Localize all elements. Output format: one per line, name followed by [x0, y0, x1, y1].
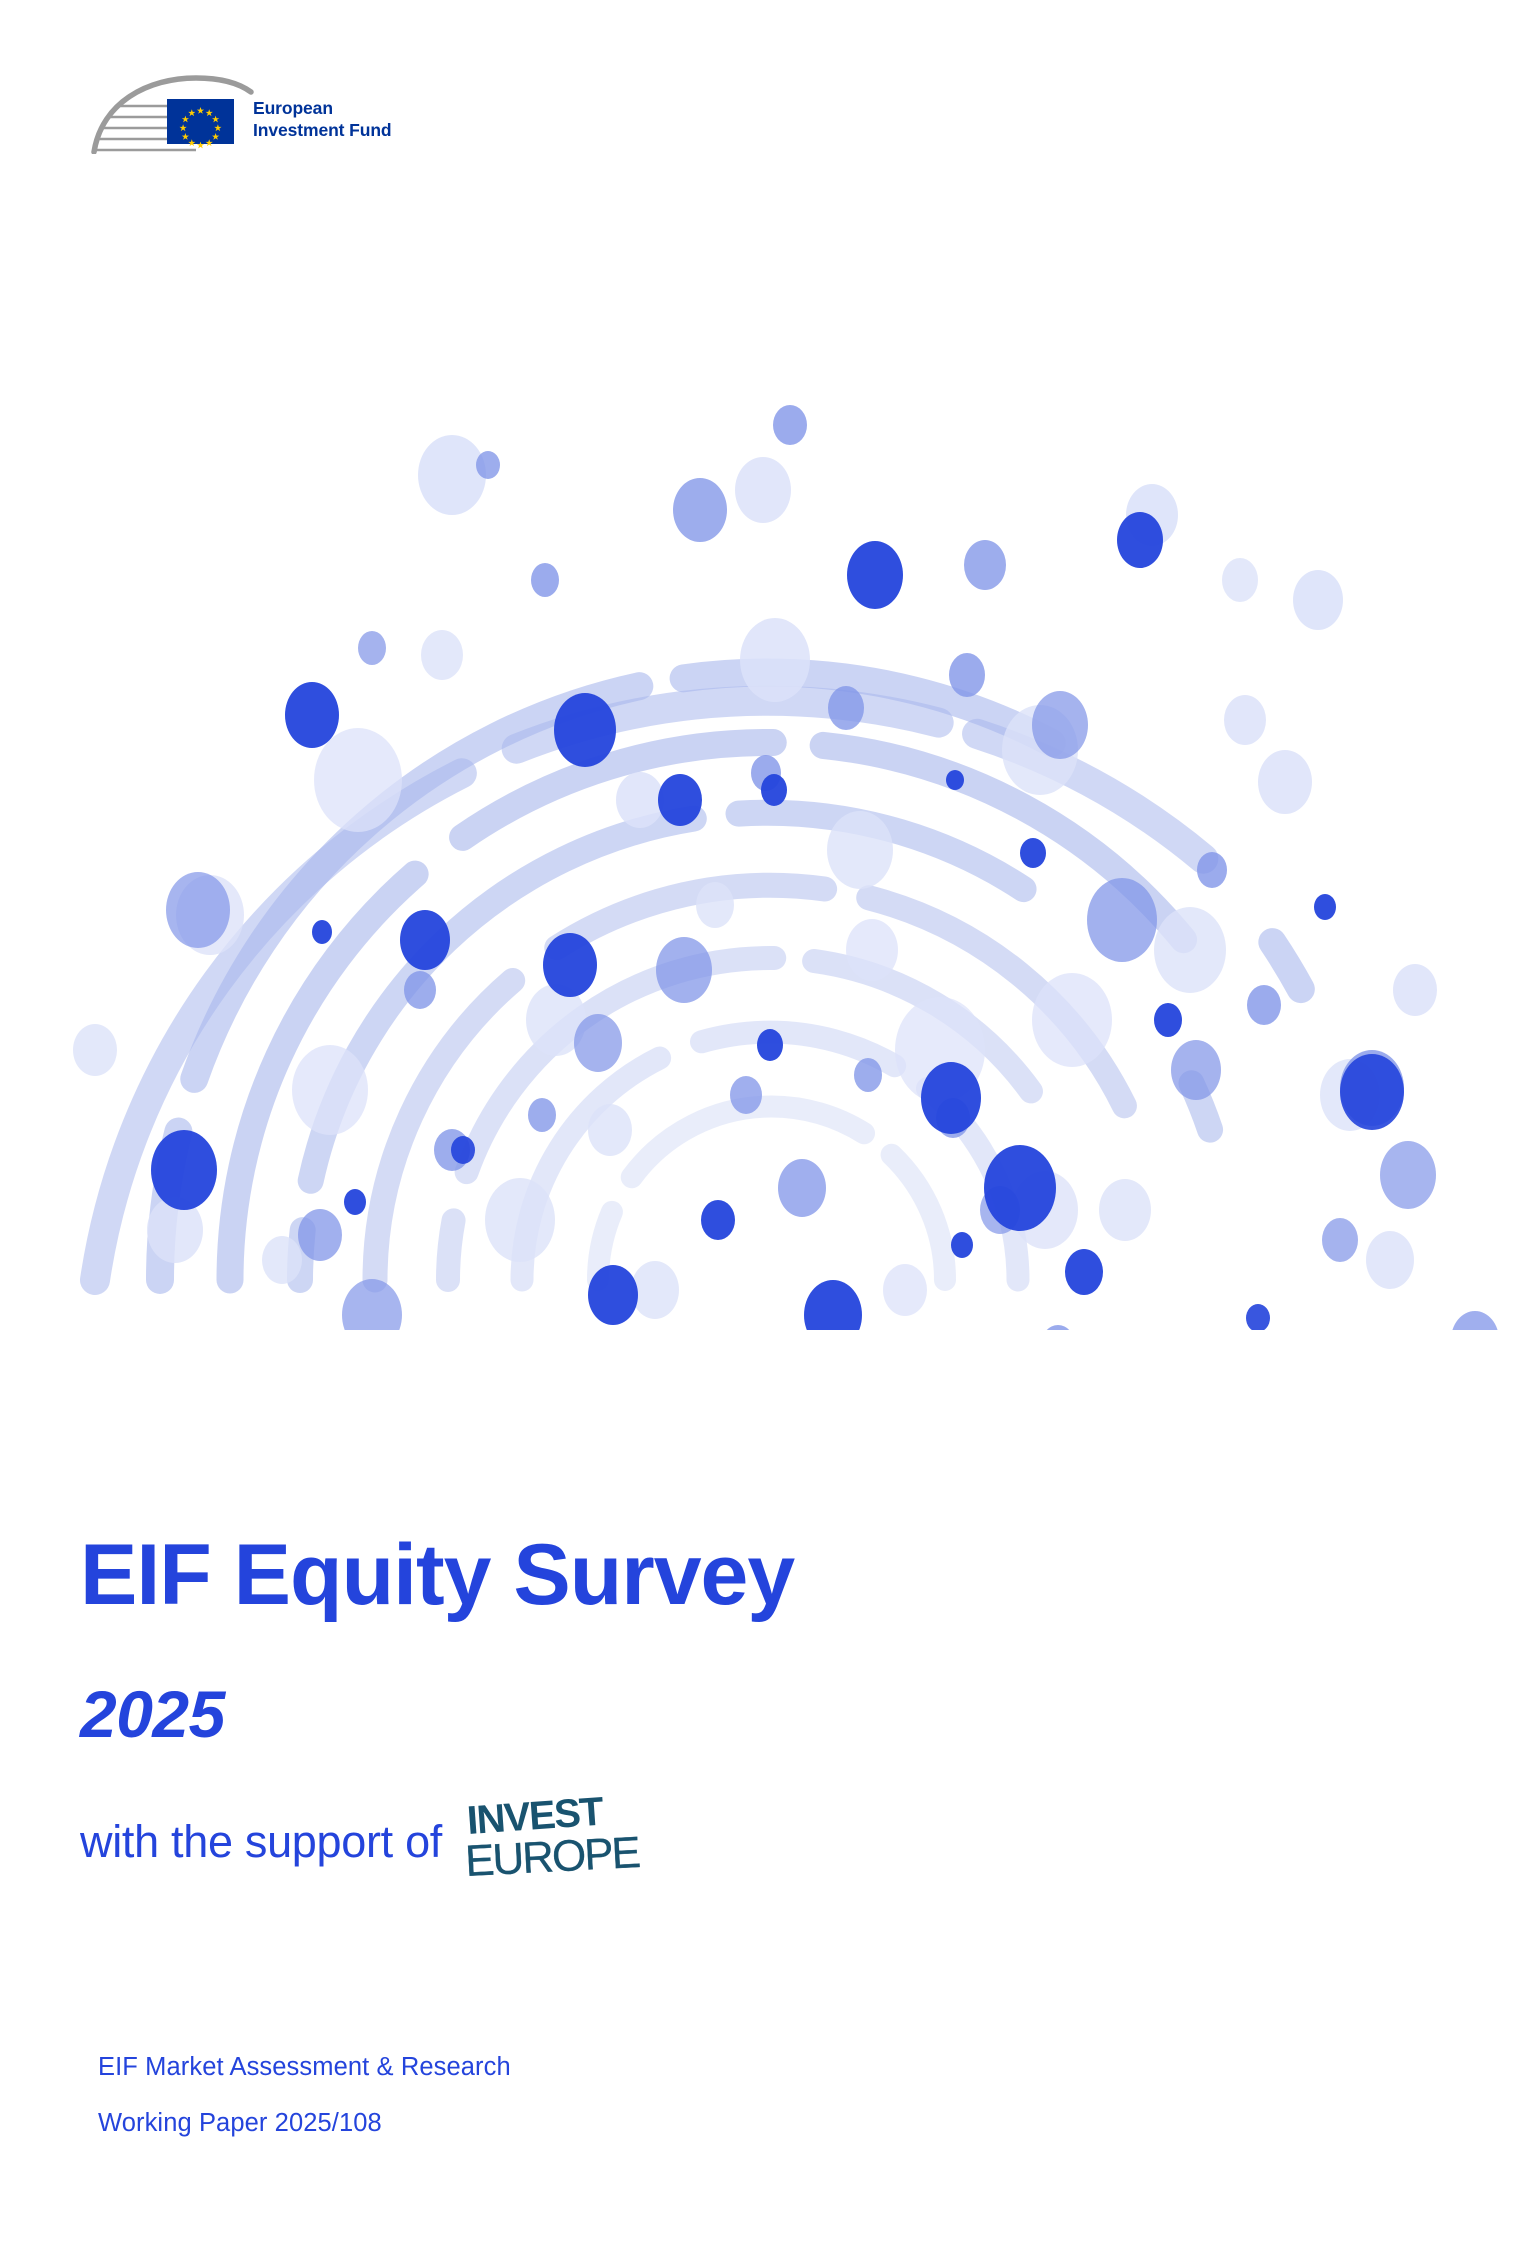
- support-text: with the support of: [80, 1816, 442, 1868]
- title-block: EIF Equity Survey 2025 with the support …: [80, 1528, 1280, 1888]
- eif-wordmark-line1: European: [253, 98, 392, 120]
- dot-group: [47, 405, 1499, 1330]
- footer-line-working-paper: Working Paper 2025/108: [98, 2108, 511, 2138]
- page-title: EIF Equity Survey: [80, 1528, 1280, 1622]
- arc-8: [598, 1107, 945, 1281]
- hero-graphic: [0, 330, 1519, 1330]
- invest-europe-logo-mark: INVEST EUROPE: [466, 1792, 650, 1888]
- page-title-year: 2025: [80, 1678, 1280, 1750]
- footer-block: EIF Market Assessment & Research Working…: [98, 2052, 511, 2138]
- eif-wordmark-line2: Investment Fund: [253, 120, 392, 142]
- rainbow-arcs-dots-svg: [0, 330, 1519, 1330]
- invest-europe-line2: EUROPE: [466, 1828, 641, 1886]
- invest-europe-logo: INVEST EUROPE: [466, 1792, 650, 1888]
- eif-logo: European Investment Fund: [88, 72, 428, 154]
- footer-line-research: EIF Market Assessment & Research: [98, 2052, 511, 2082]
- eif-wordmark: European Investment Fund: [253, 98, 392, 141]
- eu-flag-icon: [167, 99, 234, 148]
- support-line: with the support of INVEST EUROPE: [80, 1796, 1280, 1888]
